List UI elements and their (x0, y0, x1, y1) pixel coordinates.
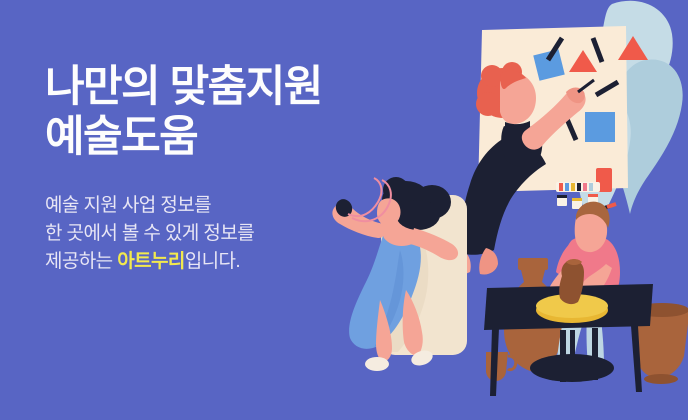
subtitle-prefix: 제공하는 (45, 251, 117, 272)
headline-line-1: 나만의 맞춤지원 (45, 62, 375, 112)
subtitle-line-1: 예술 지원 사업 정보를 (45, 192, 375, 220)
promo-banner: 나만의 맞춤지원 예술도움 예술 지원 사업 정보를 한 곳에서 볼 수 있게 … (0, 0, 688, 420)
headline-line-2: 예술도움 (45, 112, 375, 162)
small-cup (486, 352, 516, 381)
subtitle-line-2: 한 곳에서 볼 수 있게 정보를 (45, 220, 375, 248)
brand-name: 아트누리 (117, 251, 185, 272)
banner-text-block: 나만의 맞춤지원 예술도움 예술 지원 사업 정보를 한 곳에서 볼 수 있게 … (45, 62, 375, 276)
subtitle-block: 예술 지원 사업 정보를 한 곳에서 볼 수 있게 정보를 제공하는 아트누리입… (45, 192, 375, 276)
subtitle-line-3: 제공하는 아트누리입니다. (45, 248, 375, 276)
subtitle-suffix: 입니다. (185, 251, 240, 272)
pottery-scene (484, 202, 688, 396)
